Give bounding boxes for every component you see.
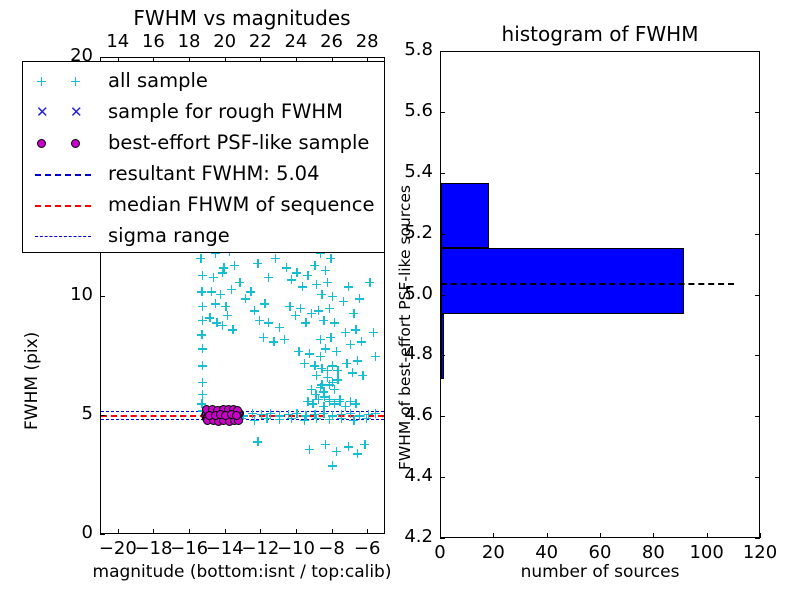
- left-plot-bottom-tick: [118, 529, 119, 534]
- right-plot-y-tick-right: [755, 295, 760, 296]
- histogram-bar: [441, 183, 489, 248]
- scatter-point: [342, 359, 351, 368]
- scatter-point: [333, 366, 342, 375]
- scatter-point: [198, 344, 207, 353]
- scatter-point: [198, 390, 207, 399]
- right-plot-y-tick: [440, 51, 445, 52]
- scatter-point: [346, 340, 355, 349]
- scatter-point: [221, 302, 230, 311]
- cross-icon: ✕: [36, 107, 49, 118]
- scatter-point: [337, 414, 346, 423]
- right-plot-x-tick: [600, 533, 601, 538]
- right-plot-y-tick-label: 5.2: [404, 222, 433, 243]
- scatter-point: [294, 347, 303, 356]
- left-plot-top-tick-label: 16: [142, 31, 165, 52]
- scatter-point: [300, 416, 309, 425]
- scatter-point: [303, 271, 312, 280]
- scatter-point: [246, 287, 255, 296]
- scatter-point: [223, 311, 232, 320]
- left-plot-top-tick-label: 20: [213, 31, 236, 52]
- scatter-point: [362, 414, 371, 423]
- legend-item-label: all sample: [108, 69, 208, 92]
- right-plot-title: histogram of FWHM: [502, 22, 699, 46]
- left-plot-bottom-tick-label: −20: [99, 538, 137, 559]
- scatter-point: [264, 318, 273, 327]
- right-plot-data-area: [441, 52, 759, 537]
- left-plot-top-tick-label: 24: [284, 31, 307, 52]
- plus-icon: [37, 77, 46, 86]
- scatter-point: [316, 335, 325, 344]
- right-plot-y-tick-right: [755, 538, 760, 539]
- scatter-point: [296, 304, 305, 313]
- right-plot-y-tick-right: [755, 234, 760, 235]
- scatter-point: [209, 273, 218, 282]
- histogram-bar: [441, 248, 684, 313]
- scatter-point: [230, 261, 239, 270]
- scatter-point: [323, 366, 332, 375]
- right-plot-axes: [440, 51, 760, 538]
- scatter-point: [198, 302, 207, 311]
- scatter-point: [271, 254, 280, 263]
- left-plot-bottom-tick: [189, 529, 190, 534]
- scatter-point: [282, 263, 291, 272]
- scatter-point: [323, 278, 332, 287]
- scatter-point: [332, 447, 341, 456]
- legend-item-label: sigma range: [108, 224, 230, 247]
- scatter-point: [196, 254, 205, 263]
- right-plot-x-tick-label: 80: [642, 542, 665, 563]
- left-plot-bottom-tick-label: −8: [318, 538, 345, 559]
- left-plot-top-tick-label: 22: [249, 31, 272, 52]
- right-plot-x-tick: [493, 533, 494, 538]
- right-plot-y-tick-label: 5.8: [404, 39, 433, 60]
- legend-item: resultant FWHM: 5.04: [23, 159, 384, 191]
- scatter-point: [287, 414, 296, 423]
- scatter-point: [300, 359, 309, 368]
- legend-marker: [23, 66, 103, 98]
- scatter-point: [353, 356, 362, 365]
- right-plot-x-tick-label: 20: [482, 542, 505, 563]
- right-plot-y-tick-right: [755, 355, 760, 356]
- scatter-point: [360, 440, 369, 449]
- scatter-point: [255, 316, 264, 325]
- right-plot-y-tick-label: 5.6: [404, 100, 433, 121]
- left-plot-y-tick: [100, 296, 105, 297]
- scatter-point: [312, 280, 321, 289]
- legend-box: all sample✕✕sample for rough FWHMbest-ef…: [22, 61, 385, 253]
- legend-marker: [23, 190, 103, 222]
- scatter-point: [275, 323, 284, 332]
- scatter-point: [328, 461, 337, 470]
- scatter-point: [358, 371, 367, 380]
- left-plot-title: FWHM vs magnitudes: [133, 6, 350, 30]
- right-plot-y-tick: [440, 112, 445, 113]
- scatter-point: [316, 383, 325, 392]
- scatter-point: [250, 416, 259, 425]
- scatter-point: [312, 371, 321, 380]
- scatter-point: [298, 282, 307, 291]
- scatter-point: [253, 259, 262, 268]
- right-plot-x-tick: [707, 533, 708, 538]
- scatter-point: [321, 266, 330, 275]
- left-plot-y-tick-label: 5: [82, 403, 93, 424]
- scatter-point: [349, 416, 358, 425]
- right-plot-x-tick-label: 0: [434, 542, 445, 563]
- left-plot-bottom-tick: [153, 529, 154, 534]
- right-plot-y-tick-right: [755, 112, 760, 113]
- right-plot-x-tick-label: 40: [535, 542, 558, 563]
- legend-item: median FHWM of sequence: [23, 190, 384, 222]
- legend-item: all sample: [23, 66, 384, 98]
- scatter-point: [228, 325, 237, 334]
- histogram-bar: [441, 314, 444, 379]
- right-plot-y-tick-right: [755, 51, 760, 52]
- left-plot-y-tick-label: 10: [70, 284, 93, 305]
- left-plot-bottom-tick: [225, 529, 226, 534]
- dashdot-line-icon: [35, 236, 91, 237]
- scatter-point: [314, 306, 323, 315]
- scatter-point: [260, 299, 269, 308]
- scatter-point: [264, 273, 273, 282]
- scatter-point: [330, 318, 339, 327]
- scatter-point: [292, 268, 301, 277]
- left-plot-bottom-tick: [260, 529, 261, 534]
- scatter-point: [344, 442, 353, 451]
- left-plot-y-tick: [100, 57, 105, 58]
- left-plot-bottom-tick-label: −6: [354, 538, 381, 559]
- scatter-point: [227, 285, 236, 294]
- scatter-point: [198, 378, 207, 387]
- right-plot-x-tick: [547, 533, 548, 538]
- legend-marker: [23, 221, 103, 253]
- legend-marker: ✕✕: [23, 97, 103, 129]
- scatter-point: [235, 278, 244, 287]
- scatter-point: [211, 299, 220, 308]
- legend-marker: [23, 128, 103, 160]
- left-plot-bottom-tick-label: −10: [277, 538, 315, 559]
- left-plot-xlabel: magnitude (bottom:isnt / top:calib): [93, 562, 392, 582]
- scatter-point: [369, 328, 378, 337]
- plus-icon: [71, 77, 80, 86]
- left-plot-bottom-tick: [332, 529, 333, 534]
- right-plot-xlabel: number of sources: [521, 562, 680, 582]
- right-plot-y-tick-right: [755, 173, 760, 174]
- left-plot-top-tick-label: 28: [356, 31, 379, 52]
- scatter-point: [259, 333, 268, 342]
- dashed-line-icon: [35, 174, 91, 176]
- scatter-point: [305, 445, 314, 454]
- right-plot-y-tick: [440, 234, 445, 235]
- scatter-point: [269, 337, 278, 346]
- right-plot-x-tick: [760, 533, 761, 538]
- right-plot-y-tick: [440, 295, 445, 296]
- scatter-point: [339, 297, 348, 306]
- right-plot-y-tick: [440, 477, 445, 478]
- right-plot-y-tick-right: [755, 477, 760, 478]
- right-plot-y-tick: [440, 173, 445, 174]
- legend-item-label: best-effort PSF-like sample: [108, 131, 369, 154]
- left-plot-y-tick: [100, 534, 105, 535]
- scatter-point: [319, 316, 328, 325]
- legend-item: sigma range: [23, 221, 384, 253]
- left-plot-bottom-tick: [296, 529, 297, 534]
- filled-circle-icon: [37, 139, 46, 148]
- scatter-point: [197, 287, 206, 296]
- right-plot-y-tick-label: 4.2: [404, 526, 433, 547]
- scatter-point: [326, 254, 335, 263]
- scatter-point: [321, 440, 330, 449]
- dashed-line-icon: [35, 205, 91, 207]
- right-plot-y-tick: [440, 538, 445, 539]
- scatter-point: [305, 349, 314, 358]
- scatter-point: [357, 337, 366, 346]
- scatter-point: [275, 415, 284, 424]
- left-plot-bottom-tick-label: −18: [134, 538, 172, 559]
- scatter-point: [328, 292, 337, 301]
- left-plot-bottom-tick: [367, 529, 368, 534]
- right-plot-x-tick-label: 100: [689, 542, 723, 563]
- right-plot-y-tick-label: 5.4: [404, 161, 433, 182]
- scatter-point: [325, 415, 334, 424]
- legend-marker: [23, 159, 103, 191]
- scatter-point: [312, 414, 321, 423]
- scatter-point: [351, 399, 360, 408]
- scatter-point: [326, 333, 335, 342]
- scatter-point: [365, 278, 374, 287]
- right-plot-y-tick-right: [755, 416, 760, 417]
- right-plot-x-tick: [653, 533, 654, 538]
- scatter-point: [341, 328, 350, 337]
- scatter-point: [310, 261, 319, 270]
- left-plot-top-tick-label: 26: [320, 31, 343, 52]
- right-plot-y-tick: [440, 355, 445, 356]
- scatter-point: [325, 380, 334, 389]
- scatter-point: [353, 449, 362, 458]
- right-plot-y-tick-label: 4.6: [404, 404, 433, 425]
- scatter-point: [280, 335, 289, 344]
- cross-icon: ✕: [70, 107, 83, 118]
- scatter-point: [321, 344, 330, 353]
- scatter-point: [317, 290, 326, 299]
- scatter-point: [285, 302, 294, 311]
- scatter-point: [250, 306, 259, 315]
- right-plot-y-tick-label: 5.0: [404, 283, 433, 304]
- right-plot-x-tick-label: 60: [589, 542, 612, 563]
- scatter-point: [348, 368, 357, 377]
- scatter-point: [332, 347, 341, 356]
- left-plot-bottom-tick-label: −16: [170, 538, 208, 559]
- right-plot-y-tick: [440, 416, 445, 417]
- right-plot-y-tick-label: 4.8: [404, 343, 433, 364]
- left-plot-ylabel: FWHM (pix): [22, 332, 42, 430]
- scatter-point: [216, 290, 225, 299]
- scatter-point: [197, 330, 206, 339]
- legend-item-label: resultant FWHM: 5.04: [108, 162, 320, 185]
- left-plot-y-tick-label: 0: [82, 522, 93, 543]
- scatter-point: [349, 309, 358, 318]
- legend-item-label: sample for rough FWHM: [108, 100, 343, 123]
- left-plot-top-tick-label: 18: [178, 31, 201, 52]
- left-plot-bottom-tick-label: −12: [241, 538, 279, 559]
- scatter-point: [218, 321, 227, 330]
- legend-item: ✕✕sample for rough FWHM: [23, 97, 384, 129]
- scatter-point: [198, 361, 207, 370]
- figure-canvas: FWHM vs magnitudes FWHM (pix) magnitude …: [0, 0, 800, 600]
- scatter-point: [218, 268, 227, 277]
- left-plot-top-tick-label: 14: [106, 31, 129, 52]
- scatter-point: [301, 318, 310, 327]
- scatter-point: [351, 325, 360, 334]
- scatter-point: [355, 294, 364, 303]
- scatter-point: [253, 437, 262, 446]
- scatter-point: [198, 271, 207, 280]
- scatter-point: [344, 282, 353, 291]
- right-plot-y-tick-label: 4.4: [404, 465, 433, 486]
- scatter-point: [325, 304, 334, 313]
- filled-circle-icon: [71, 139, 80, 148]
- left-plot-y-tick: [100, 415, 105, 416]
- scatter-point: [262, 414, 271, 423]
- legend-item: best-effort PSF-like sample: [23, 128, 384, 160]
- scatter-point: [371, 409, 380, 418]
- left-plot-bottom-tick-label: −14: [206, 538, 244, 559]
- legend-item-label: median FHWM of sequence: [108, 193, 374, 216]
- histogram-reference-line: [441, 283, 734, 285]
- scatter-point: [207, 287, 216, 296]
- right-plot-x-tick-label: 120: [743, 542, 777, 563]
- scatter-point: [371, 352, 380, 361]
